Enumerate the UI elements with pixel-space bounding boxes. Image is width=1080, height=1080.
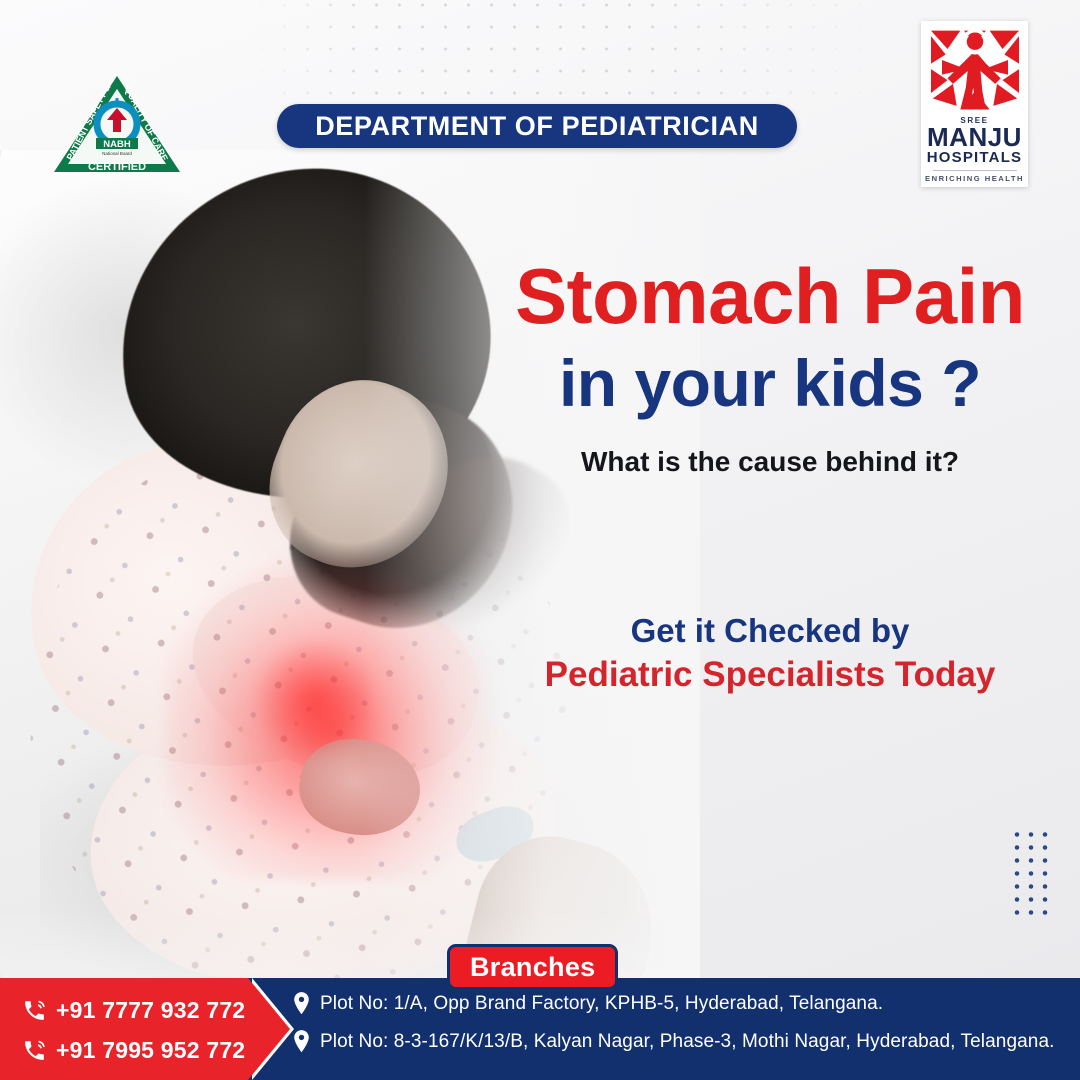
cta-line2: Pediatric Specialists Today <box>470 654 1070 696</box>
phone-row[interactable]: +91 7777 932 772 <box>22 990 252 1030</box>
phone-list: +91 7777 932 772 +91 7995 952 772 <box>22 990 252 1070</box>
headline-subtitle: What is the cause behind it? <box>470 446 1070 478</box>
department-banner-label: DEPARTMENT OF PEDIATRICIAN <box>315 111 759 142</box>
address-list: Plot No: 1/A, Opp Brand Factory, KPHB-5,… <box>292 992 1072 1068</box>
headline-block: Stomach Pain in your kids ? What is the … <box>470 258 1070 478</box>
cta-line1: Get it Checked by <box>470 612 1070 650</box>
location-pin-icon <box>292 992 311 1016</box>
logo-manju-text: MANJU <box>927 125 1022 150</box>
logo-tagline: ENRICHING HEALTH <box>925 174 1024 183</box>
address-row: Plot No: 1/A, Opp Brand Factory, KPHB-5,… <box>292 992 1072 1030</box>
cta-block: Get it Checked by Pediatric Specialists … <box>470 612 1070 696</box>
phone-number: +91 7777 932 772 <box>56 997 245 1024</box>
branches-badge: Branches <box>447 944 618 990</box>
phone-icon <box>22 1038 47 1063</box>
department-banner: DEPARTMENT OF PEDIATRICIAN <box>277 104 797 148</box>
footer-red-chevron <box>248 978 290 1080</box>
dot-pattern-top-decoration <box>250 0 950 114</box>
address-text: Plot No: 8-3-167/K/13/B, Kalyan Nagar, P… <box>320 1030 1055 1054</box>
phone-number: +91 7995 952 772 <box>56 1037 245 1064</box>
location-pin-icon <box>292 1030 311 1054</box>
svg-text:National Board: National Board <box>102 151 132 156</box>
hospital-logo: SREE MANJU HOSPITALS ENRICHING HEALTH <box>921 21 1028 187</box>
headline-line2: in your kids ? <box>470 350 1070 416</box>
dot-pattern-right-decoration <box>1010 828 1052 916</box>
address-row: Plot No: 8-3-167/K/13/B, Kalyan Nagar, P… <box>292 1030 1072 1068</box>
nabh-acronym: NABH <box>103 139 131 150</box>
address-text: Plot No: 1/A, Opp Brand Factory, KPHB-5,… <box>320 992 883 1016</box>
branches-label: Branches <box>470 952 595 983</box>
headline-line1: Stomach Pain <box>470 258 1070 334</box>
nabh-certified-label: CERTIFIED <box>88 161 146 173</box>
nabh-certification-badge: PATIENT SAFETY & QUALITY OF CARE NABH Na… <box>52 72 182 176</box>
logo-hospitals-text: HOSPITALS <box>927 150 1023 167</box>
logo-divider <box>933 170 1017 171</box>
pediatric-stomach-pain-poster: PATIENT SAFETY & QUALITY OF CARE NABH Na… <box>0 0 1080 1080</box>
phone-row[interactable]: +91 7995 952 772 <box>22 1030 252 1070</box>
radiating-human-figure-icon <box>929 27 1021 115</box>
phone-icon <box>22 998 47 1023</box>
